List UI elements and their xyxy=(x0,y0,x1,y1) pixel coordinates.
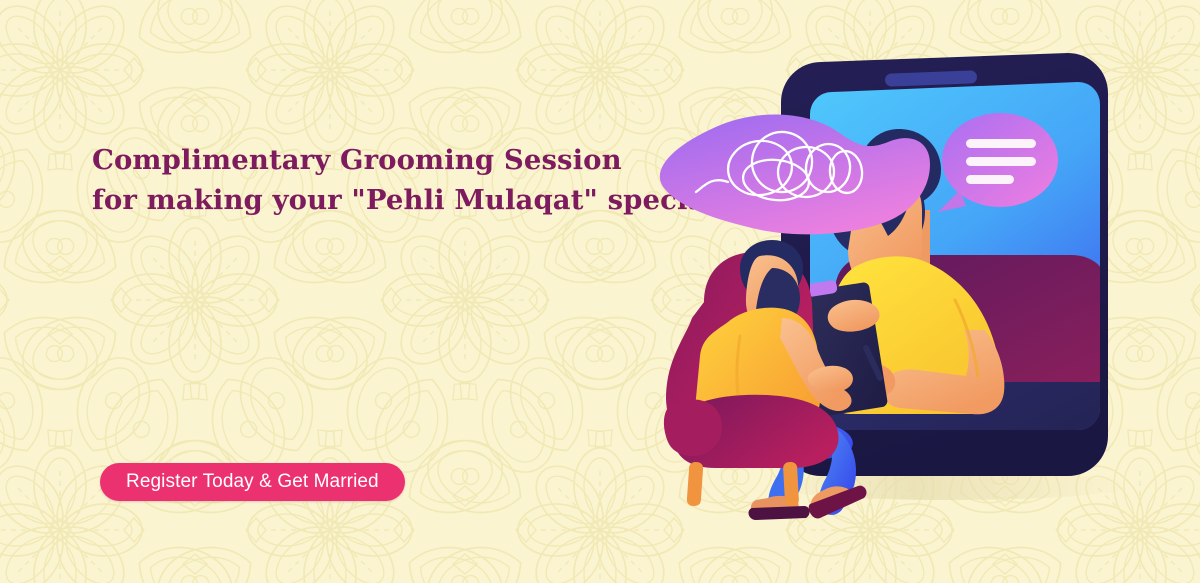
register-today-button[interactable]: Register Today & Get Married xyxy=(100,463,405,501)
speech-bubble-line-3 xyxy=(966,175,1014,184)
man-shoe-right xyxy=(749,506,810,520)
smartphone-illustration xyxy=(778,53,1120,476)
headline-block: Complimentary Grooming Session for makin… xyxy=(92,140,652,220)
headline-line-1: Complimentary Grooming Session xyxy=(92,140,652,180)
armchair-arm-front xyxy=(664,399,722,456)
headline-line-2: for making your "Pehli Mulaqat" special xyxy=(92,180,652,220)
speech-bubble-line-1 xyxy=(966,139,1036,148)
armchair-leg-right xyxy=(783,462,799,507)
promotional-banner: Complimentary Grooming Session for makin… xyxy=(0,0,1200,583)
speech-bubble-line-2 xyxy=(966,157,1036,166)
counselling-illustration xyxy=(600,0,1200,583)
armchair-leg-left xyxy=(686,462,703,507)
